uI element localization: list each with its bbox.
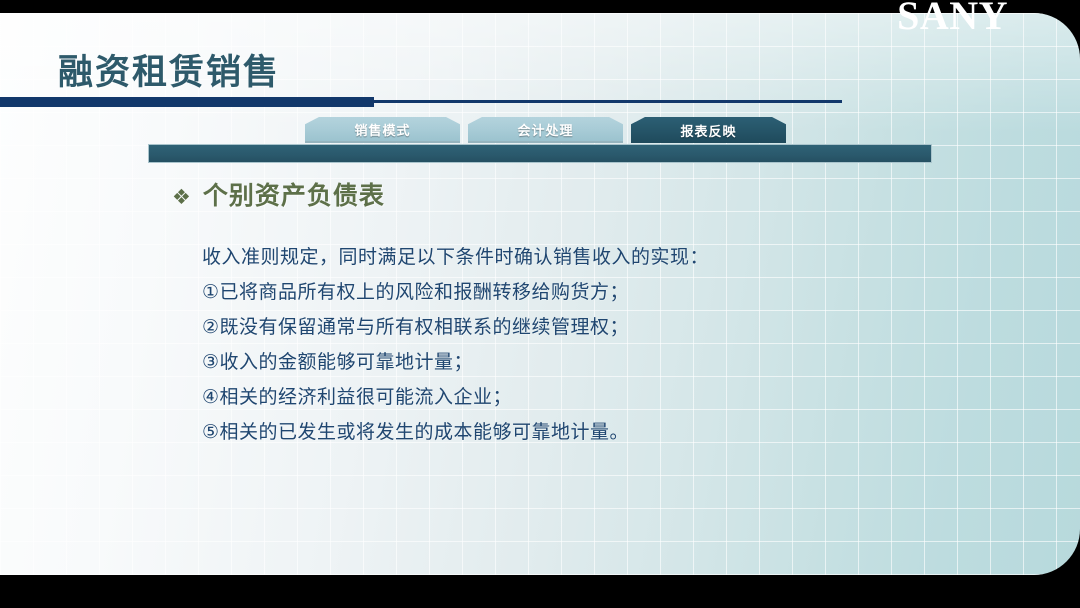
- tab-sales-model[interactable]: 销售模式: [305, 117, 460, 143]
- body-line: ⑤相关的已发生或将发生的成本能够可靠地计量。: [202, 415, 902, 450]
- tab-report-reflection[interactable]: 报表反映: [631, 117, 786, 143]
- section-divider-bar: [148, 144, 932, 163]
- section-heading: ❖ 个别资产负债表: [172, 176, 385, 212]
- body-line: ③收入的金额能够可靠地计量；: [202, 345, 902, 380]
- title-rule-thick: [0, 97, 374, 107]
- tab-bar: 销售模式 会计处理 报表反映: [305, 117, 786, 143]
- page-title: 融资租赁销售: [58, 44, 280, 95]
- tab-accounting-treatment-label: 会计处理: [517, 120, 573, 139]
- body-line: ④相关的经济利益很可能流入企业；: [202, 380, 902, 415]
- title-rule-thin: [374, 100, 842, 103]
- body-line: ①已将商品所有权上的风险和报酬转移给购货方；: [202, 275, 902, 310]
- section-heading-label: 个别资产负债表: [203, 176, 385, 212]
- slide-canvas: SANY 融资租赁销售 销售模式 会计处理 报表反映 ❖ 个别资产负债表 收入准…: [0, 0, 1080, 608]
- body-text-block: 收入准则规定，同时满足以下条件时确认销售收入的实现： ①已将商品所有权上的风险和…: [202, 240, 902, 450]
- tab-sales-model-label: 销售模式: [354, 120, 410, 139]
- body-line: ②既没有保留通常与所有权相联系的继续管理权；: [202, 310, 902, 345]
- tab-report-reflection-label: 报表反映: [680, 121, 736, 140]
- diamond-bullet-icon: ❖: [172, 187, 192, 208]
- sany-logo: SANY: [897, 0, 1008, 36]
- tab-accounting-treatment[interactable]: 会计处理: [468, 117, 623, 143]
- body-line: 收入准则规定，同时满足以下条件时确认销售收入的实现：: [202, 240, 902, 275]
